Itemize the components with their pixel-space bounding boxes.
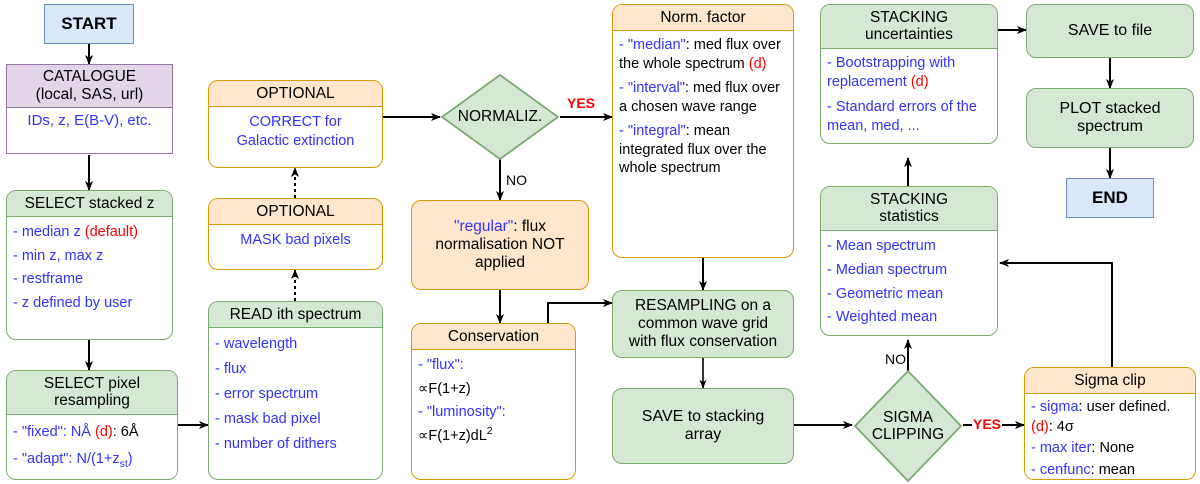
select-pixel-resampling-body: - "fixed": NÅ (d): 6Å - "adapt": N/(1+zs…: [7, 415, 177, 478]
norm-factor-body: - "median": med flux over the whole spec…: [613, 31, 793, 181]
conservation-header: Conservation: [412, 324, 575, 350]
list-item: - "flux":: [418, 354, 569, 377]
list-item: - max iter: None: [1031, 439, 1189, 459]
stacking-uncertainties-header-line1: STACKING: [823, 9, 995, 26]
norm-factor-header: Norm. factor: [613, 5, 793, 31]
sigma-clipping-line2: CLIPPING: [872, 426, 944, 443]
plot-stacked-line2: spectrum: [1077, 118, 1143, 136]
list-item: ∝F(1+z): [418, 378, 569, 401]
node-save-to-file[interactable]: SAVE to file: [1026, 4, 1194, 58]
flowchart-canvas: START CATALOGUE (local, SAS, url) IDs, z…: [0, 0, 1200, 484]
node-end[interactable]: END: [1066, 178, 1154, 218]
list-item: - Geometric mean: [827, 283, 991, 307]
stacking-statistics-header-line2: statistics: [823, 208, 995, 225]
plot-stacked-line1: PLOT stacked: [1059, 100, 1160, 118]
list-item: - Bootstrapping with replacement (d): [827, 54, 991, 92]
start-label: START: [61, 14, 116, 34]
optional-correct-body: CORRECT for Galactic extinction: [209, 107, 382, 154]
sigma-clipping-line1: SIGMA: [883, 409, 933, 426]
resampling-line2: common wave grid: [638, 315, 768, 333]
node-conservation[interactable]: Conservation - "flux": ∝F(1+z) - "lumino…: [411, 323, 576, 480]
sigma-clipping-label: SIGMA CLIPPING: [852, 368, 964, 484]
regular-line3: applied: [475, 254, 525, 272]
node-save-stacking-array[interactable]: SAVE to stacking array: [612, 388, 794, 464]
catalogue-header: CATALOGUE (local, SAS, url): [7, 65, 172, 108]
optional-correct-line2: Galactic extinction: [215, 132, 376, 151]
optional-mask-header: OPTIONAL: [209, 199, 382, 225]
select-pixel-resampling-header-line1: SELECT pixel: [9, 375, 175, 392]
stacking-uncertainties-body: - Bootstrapping with replacement (d) - S…: [821, 49, 997, 140]
list-item: - flux: [215, 357, 376, 382]
edge-label-sigma-no: NO: [884, 352, 907, 366]
node-select-pixel-resampling[interactable]: SELECT pixel resampling - "fixed": NÅ (d…: [6, 370, 178, 480]
list-item: - Median spectrum: [827, 259, 991, 283]
stacking-statistics-body: - Mean spectrum - Median spectrum - Geom…: [821, 231, 997, 334]
list-item: - Standard errors of the mean, med, ...: [827, 98, 991, 136]
resampling-line1: RESAMPLING on a: [635, 297, 771, 315]
node-sigma-clip[interactable]: Sigma clip - sigma: user defined. (d): 4…: [1024, 367, 1196, 480]
list-item: - "fixed": NÅ (d): 6Å: [13, 419, 171, 447]
resampling-line3: with flux conservation: [629, 333, 777, 351]
stacking-statistics-header-line1: STACKING: [823, 191, 995, 208]
stacking-uncertainties-header-line2: uncertainties: [823, 26, 995, 43]
select-stacked-z-header: SELECT stacked z: [7, 191, 172, 217]
list-item: - wavelength: [215, 332, 376, 357]
end-label: END: [1092, 188, 1128, 208]
read-spectrum-body: - wavelength - flux - error spectrum - m…: [209, 328, 382, 460]
edge-label-normaliz-yes: YES: [566, 96, 596, 110]
list-item: - sigma: user defined. (d): 4σ: [1031, 398, 1189, 437]
list-item: - Weighted mean: [827, 306, 991, 330]
list-item: - median z (default): [13, 221, 166, 244]
list-item: - "median": med flux over the whole spec…: [619, 36, 787, 74]
list-item: - number of dithers: [215, 432, 376, 457]
node-read-spectrum[interactable]: READ ith spectrum - wavelength - flux - …: [208, 301, 383, 480]
node-select-stacked-z[interactable]: SELECT stacked z - median z (default) - …: [6, 190, 173, 340]
node-sigma-clipping-decision[interactable]: SIGMA CLIPPING: [852, 368, 964, 484]
node-resampling[interactable]: RESAMPLING on a common wave grid with fl…: [612, 290, 794, 358]
conservation-body: - "flux": ∝F(1+z) - "luminosity": ∝F(1+z…: [412, 350, 575, 451]
list-item: - "integral": mean integrated flux over …: [619, 122, 787, 179]
list-item: - mask bad pixel: [215, 407, 376, 432]
list-item: - cenfunc: mean: [1031, 461, 1189, 480]
node-regular[interactable]: "regular": flux normalisation NOT applie…: [411, 200, 589, 290]
node-catalogue[interactable]: CATALOGUE (local, SAS, url) IDs, z, E(B-…: [6, 64, 173, 154]
node-plot-stacked[interactable]: PLOT stacked spectrum: [1026, 88, 1194, 148]
catalogue-body: IDs, z, E(B-V), etc.: [7, 108, 172, 133]
list-item: - Mean spectrum: [827, 235, 991, 259]
list-item: - "adapt": N/(1+zst): [13, 446, 171, 475]
edge-label-sigma-yes: YES: [972, 417, 1002, 431]
regular-line2: normalisation NOT: [435, 236, 564, 254]
list-item: ∝F(1+z)dL2: [418, 424, 569, 448]
save-stacking-array-line1: SAVE to stacking: [642, 408, 764, 426]
list-item: - "interval": med flux over a chosen wav…: [619, 79, 787, 117]
regular-line1: "regular": flux: [454, 218, 546, 236]
stacking-statistics-header: STACKING statistics: [821, 187, 997, 231]
list-item: - z defined by user: [13, 292, 166, 315]
sigma-clip-body: - sigma: user defined. (d): 4σ - max ite…: [1025, 394, 1195, 480]
node-optional-correct[interactable]: OPTIONAL CORRECT for Galactic extinction: [208, 80, 383, 168]
select-pixel-resampling-header-line2: resampling: [9, 392, 175, 409]
save-stacking-array-line2: array: [685, 426, 721, 444]
save-to-file-label: SAVE to file: [1068, 22, 1152, 40]
select-pixel-resampling-header: SELECT pixel resampling: [7, 371, 177, 415]
list-item: - error spectrum: [215, 382, 376, 407]
optional-correct-line1: CORRECT for: [215, 113, 376, 132]
sigma-clip-header: Sigma clip: [1025, 368, 1195, 394]
catalogue-header-line2: (local, SAS, url): [9, 86, 170, 104]
node-norm-factor[interactable]: Norm. factor - "median": med flux over t…: [612, 4, 794, 258]
optional-correct-header: OPTIONAL: [209, 81, 382, 107]
edge-label-normaliz-no: NO: [505, 173, 528, 187]
list-item: - min z, max z: [13, 245, 166, 268]
read-spectrum-header: READ ith spectrum: [209, 302, 382, 328]
normaliz-label: NORMALIZ.: [440, 73, 560, 161]
list-item: - restframe: [13, 268, 166, 291]
catalogue-header-line1: CATALOGUE: [9, 68, 170, 86]
list-item: - "luminosity":: [418, 401, 569, 424]
node-optional-mask[interactable]: OPTIONAL MASK bad pixels: [208, 198, 383, 270]
node-normaliz-decision[interactable]: NORMALIZ.: [440, 73, 560, 161]
node-stacking-uncertainties[interactable]: STACKING uncertainties - Bootstrapping w…: [820, 4, 998, 144]
optional-mask-body: MASK bad pixels: [209, 225, 382, 253]
connector-layer: [0, 0, 1200, 484]
stacking-uncertainties-header: STACKING uncertainties: [821, 5, 997, 49]
select-stacked-z-body: - median z (default) - min z, max z - re…: [7, 217, 172, 318]
node-stacking-statistics[interactable]: STACKING statistics - Mean spectrum - Me…: [820, 186, 998, 336]
node-start[interactable]: START: [44, 4, 134, 44]
